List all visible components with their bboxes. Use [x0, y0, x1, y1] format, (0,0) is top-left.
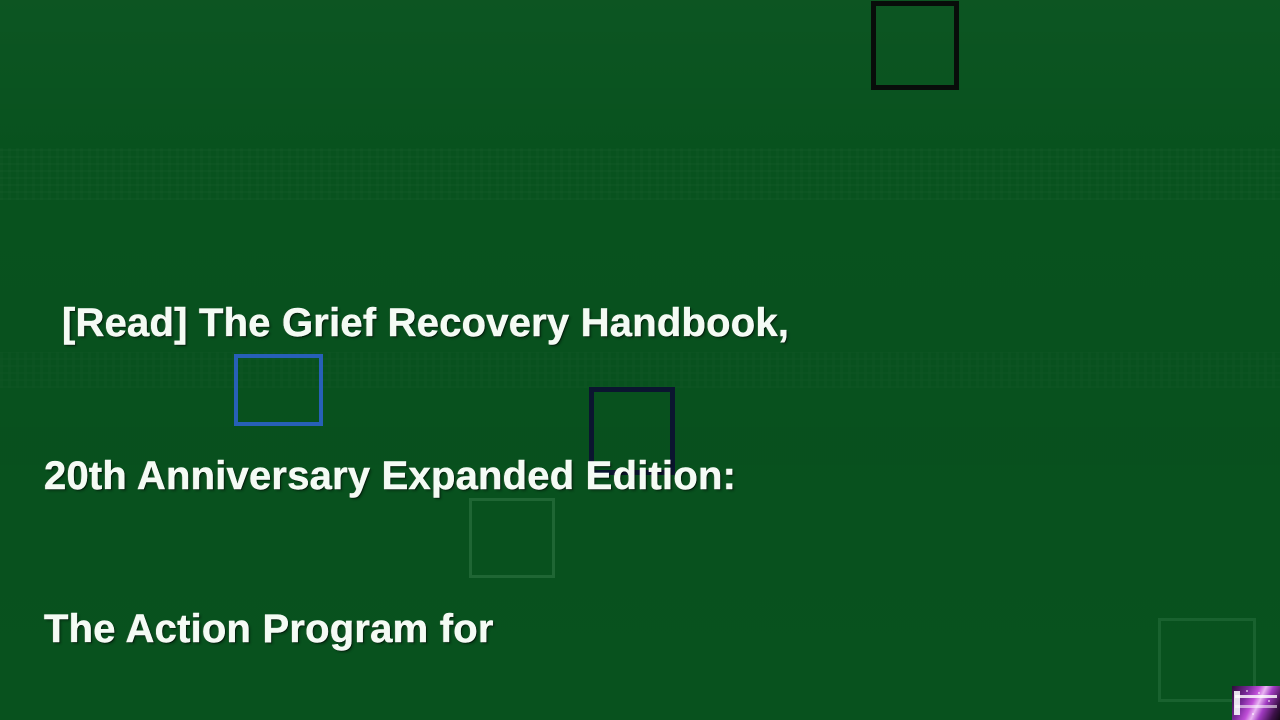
watermark-speck	[1252, 713, 1254, 715]
watermark-fill	[1232, 686, 1280, 720]
watermark-tick	[1234, 691, 1240, 715]
watermark-bar-lower	[1235, 705, 1277, 708]
faint-square-right-icon	[1158, 618, 1256, 702]
watermark-speck	[1258, 692, 1260, 694]
dark-square-top-right-icon	[871, 1, 959, 90]
corner-watermark-badge	[1232, 686, 1280, 720]
watermark-speck	[1268, 700, 1270, 702]
watermark-bar-upper	[1235, 695, 1277, 698]
compression-ghost-band-top	[0, 148, 1280, 200]
page-title-line-1: [Read] The Grief Recovery Handbook,	[44, 298, 1004, 349]
watermark-speck	[1246, 690, 1248, 692]
page-title-line-2: 20th Anniversary Expanded Edition:	[44, 451, 1004, 502]
video-frame: [Read] The Grief Recovery Handbook, 20th…	[0, 0, 1280, 720]
page-title-line-3: The Action Program for	[44, 604, 1004, 655]
page-title: [Read] The Grief Recovery Handbook, 20th…	[44, 196, 1004, 720]
